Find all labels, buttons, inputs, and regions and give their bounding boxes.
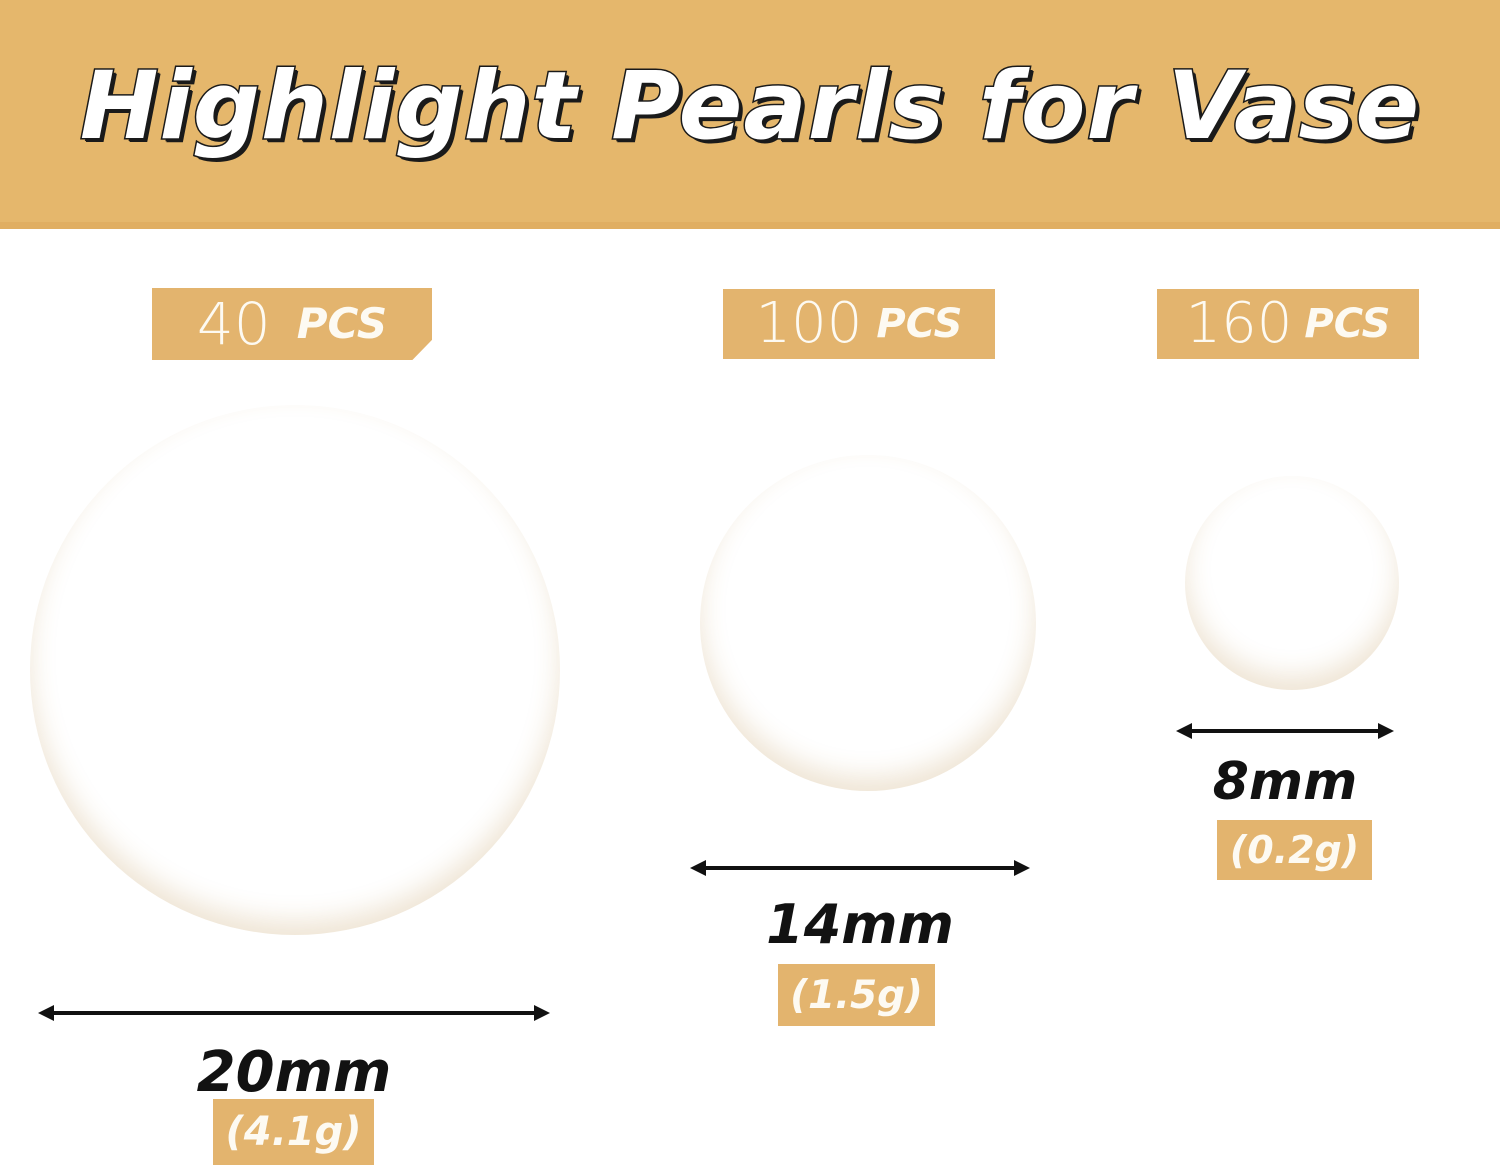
pearl-image-14mm — [700, 455, 1036, 791]
quantity-unit-8mm: PCS — [1304, 304, 1390, 344]
arrow-line — [700, 866, 1020, 870]
arrow-head-right-icon — [1378, 723, 1394, 739]
arrow-head-right-icon — [534, 1005, 550, 1021]
pearl-image-8mm — [1185, 476, 1399, 690]
dimension-arrow-8mm — [1176, 720, 1394, 742]
diameter-label-20mm: 20mm — [38, 1040, 550, 1105]
weight-badge-20mm: (4.1g) — [213, 1099, 374, 1165]
diameter-label-8mm: 8mm — [1176, 752, 1394, 812]
quantity-value-20mm: 40 — [197, 295, 271, 353]
weight-badge-14mm: (1.5g) — [778, 964, 935, 1026]
arrow-head-right-icon — [1014, 860, 1030, 876]
arrow-line — [48, 1011, 540, 1015]
dimension-arrow-14mm — [690, 857, 1030, 879]
quantity-badge-8mm: 160 PCS — [1157, 289, 1419, 359]
diameter-label-14mm: 14mm — [690, 893, 1030, 956]
arrow-line — [1186, 729, 1384, 733]
quantity-value-14mm: 100 — [756, 296, 863, 352]
quantity-badge-20mm: 40 PCS — [152, 288, 432, 360]
quantity-value-8mm: 160 — [1186, 296, 1293, 352]
weight-badge-8mm: (0.2g) — [1217, 820, 1372, 880]
quantity-unit-14mm: PCS — [876, 304, 962, 344]
page-title: Highlight Pearls for Vase — [0, 52, 1500, 161]
header-banner-underline — [0, 222, 1500, 229]
dimension-arrow-20mm — [38, 1002, 550, 1024]
quantity-badge-14mm: 100 PCS — [723, 289, 995, 359]
pearl-image-20mm — [30, 405, 560, 935]
quantity-unit-20mm: PCS — [297, 303, 387, 345]
product-infographic: Highlight Pearls for Vase 40 PCS 20mm (4… — [0, 0, 1500, 1170]
